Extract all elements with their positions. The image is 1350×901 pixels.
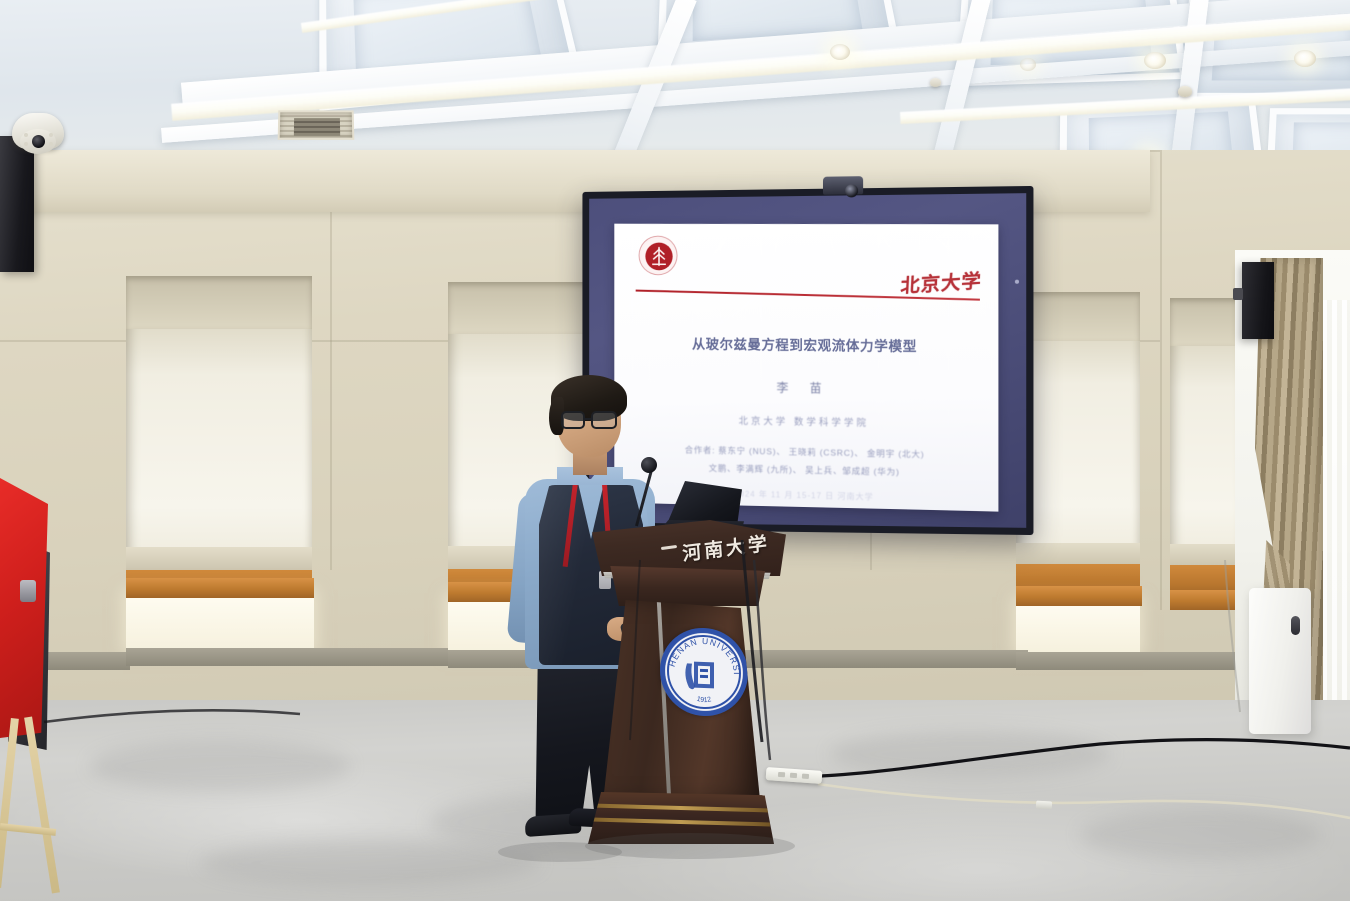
purifier-control-icon[interactable] xyxy=(1291,616,1300,635)
pku-seal-icon xyxy=(639,236,678,276)
pku-seal-glyph xyxy=(645,243,672,271)
podium-neck xyxy=(600,566,772,606)
podium-institution-text: 河南大学 xyxy=(681,529,770,567)
lecture-hall-photo: 北京大学 从玻尔兹曼方程到宏观流体力学模型 李 苗 北京大学 数学科学学院 合作… xyxy=(0,0,1350,901)
downlight xyxy=(1144,52,1166,69)
downlight xyxy=(1294,50,1316,67)
display-indicator xyxy=(1015,280,1019,284)
board-clamp xyxy=(20,580,36,602)
baseboard xyxy=(126,648,448,666)
wall-speaker xyxy=(1242,262,1274,339)
podium-gold-trim xyxy=(592,818,770,827)
smoke-detector xyxy=(1178,86,1192,97)
wall-niche xyxy=(126,276,312,606)
pku-wordmark: 北京大学 xyxy=(900,266,983,299)
wall-light-band xyxy=(126,592,314,650)
downlight xyxy=(830,44,850,60)
podium-base xyxy=(588,792,774,844)
slide-title: 从玻尔兹曼方程到宏观流体力学模型 xyxy=(614,332,998,356)
ptz-dome-camera-icon xyxy=(12,113,64,165)
glasses-icon xyxy=(561,411,621,430)
air-purifier[interactable] xyxy=(1249,588,1311,734)
svg-text:1912: 1912 xyxy=(696,696,712,705)
ceiling-air-vent-icon xyxy=(278,110,355,140)
wood-trim xyxy=(1016,586,1142,606)
wall-niche xyxy=(1016,292,1140,598)
podium-body: HENAN UNIVERSITY 1912 xyxy=(600,600,760,800)
downlight xyxy=(1020,58,1036,71)
henan-university-emblem-icon: HENAN UNIVERSITY 1912 xyxy=(660,626,748,717)
baseboard xyxy=(1016,652,1246,670)
wall-light-band xyxy=(1016,600,1140,652)
webcam-icon xyxy=(823,176,863,195)
podium-gold-trim xyxy=(592,804,770,813)
henan-emblem-glyph: HENAN UNIVERSITY 1912 xyxy=(660,626,748,717)
microphone-icon xyxy=(641,457,657,473)
wood-trim xyxy=(1170,590,1242,610)
cable-clip xyxy=(1036,801,1052,810)
red-draped-display-board xyxy=(0,478,48,738)
podium-accent xyxy=(661,545,677,550)
smoke-detector xyxy=(930,78,941,87)
wood-trim xyxy=(126,578,314,598)
wall-niche xyxy=(1170,298,1242,598)
